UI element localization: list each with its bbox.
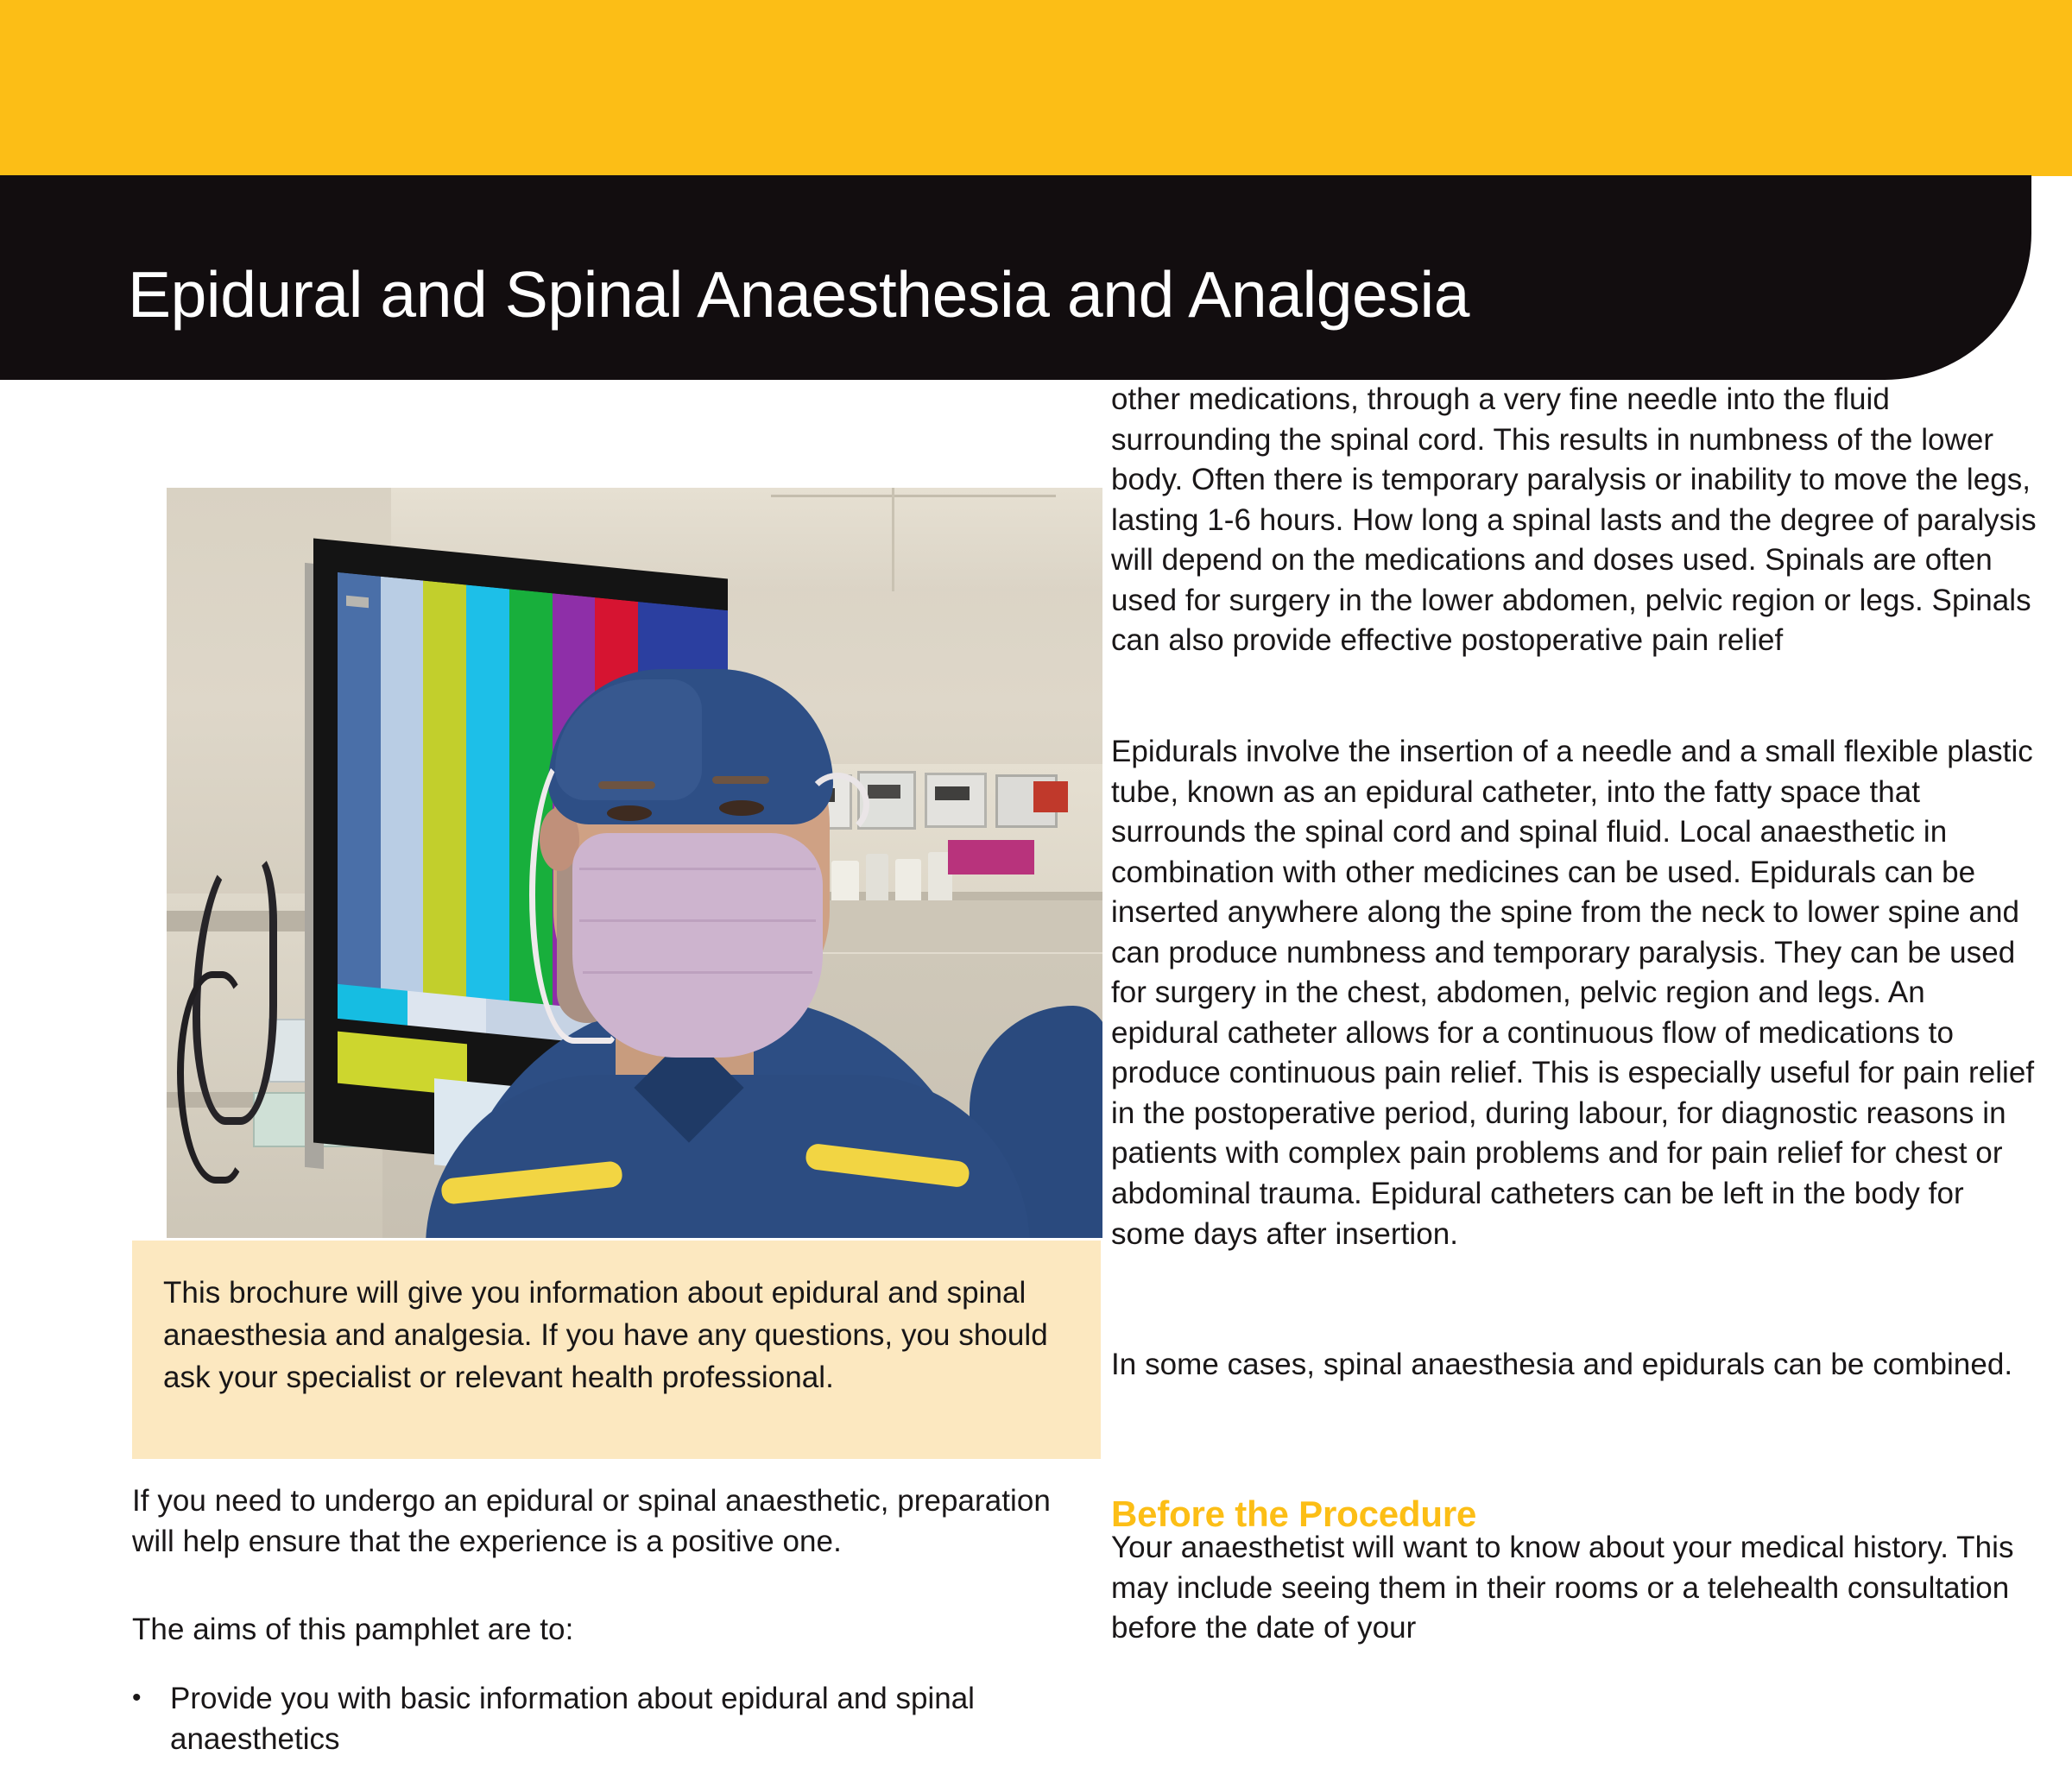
info-callout-text: This brochure will give you information …: [163, 1272, 1070, 1399]
photo-mask-strap-secondary: [805, 773, 869, 837]
photo-equipment-module-3: [925, 773, 987, 828]
page-content: This brochure will give you information …: [0, 380, 2072, 1768]
right-paragraph-1: other medications, through a very fine n…: [1111, 380, 2037, 661]
right-paragraph-3: In some cases, spinal anaesthesia and ep…: [1111, 1345, 2037, 1386]
right-column: other medications, through a very fine n…: [1111, 380, 2037, 1768]
photo-ceiling-rail: [771, 495, 1056, 497]
theatre-photo: [167, 488, 1102, 1238]
left-column: This brochure will give you information …: [132, 380, 1101, 1768]
left-paragraph-1: If you need to undergo an epidural or sp…: [132, 1481, 1064, 1562]
photo-magenta-label: [948, 840, 1034, 875]
photo-equipment-screen-2: [868, 785, 900, 799]
list-item-label: Provide you with basic information about…: [170, 1679, 1101, 1759]
photo-mask-strap: [529, 747, 619, 1044]
right-paragraph-2: Epidurals involve the insertion of a nee…: [1111, 732, 2037, 1254]
photo-eyebrow-right: [712, 776, 769, 784]
photo-monitor-indicator: [346, 596, 369, 609]
photo-cable-secondary: [177, 971, 251, 1184]
photo-equipment-red-indicator: [1033, 781, 1068, 812]
page-title: Epidural and Spinal Anaesthesia and Anal…: [128, 261, 1941, 329]
list-item: • Provide you with basic information abo…: [132, 1679, 1101, 1759]
bullet-marker-icon: •: [132, 1679, 170, 1759]
right-paragraph-4: Your anaesthetist will want to know abou…: [1111, 1528, 2037, 1649]
left-paragraph-2: The aims of this pamphlet are to:: [132, 1610, 1064, 1651]
aims-bullet-list: • Provide you with basic information abo…: [132, 1679, 1101, 1765]
info-callout-box: This brochure will give you information …: [132, 1241, 1101, 1459]
photo-equipment-screen-3: [935, 786, 970, 800]
top-yellow-band: [0, 0, 2072, 176]
photo-eye-right: [719, 800, 764, 816]
photo-ceiling-post: [892, 488, 894, 591]
